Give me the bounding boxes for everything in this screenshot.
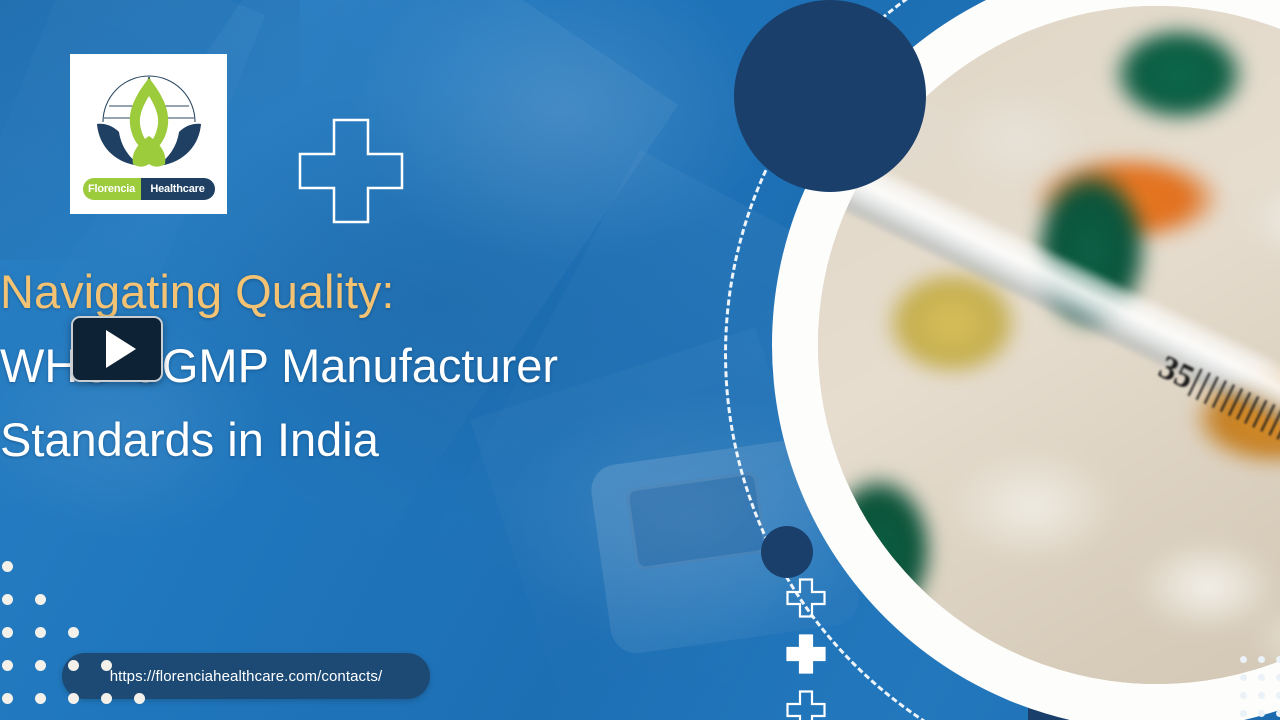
decorative-dot [1258,692,1265,699]
medical-cross-solid-icon [786,634,826,674]
presentation-slide: 35 [0,0,1280,720]
decorative-dot [1258,710,1265,717]
decorative-dot [1258,674,1265,681]
decorative-dot [1240,692,1247,699]
decorative-dot [68,693,79,704]
decorative-dot [2,693,13,704]
video-play-button[interactable] [71,316,163,382]
brand-logo-mark: Florencia Healthcare [83,66,215,202]
decorative-dot [1240,656,1247,663]
decorative-dot [1276,692,1280,699]
brand-logo: Florencia Healthcare [70,54,227,214]
url-pill[interactable]: https://florenciahealthcare.com/contacts… [62,653,430,699]
decorative-dot [1240,674,1247,681]
decorative-dot [35,627,46,638]
play-icon [106,330,136,368]
decorative-dot [1276,710,1280,717]
headline-line-3: Standards in India [0,403,700,477]
decorative-dot [1276,674,1280,681]
navy-circle-large [734,0,926,192]
medical-cross-outline-icon [786,578,826,618]
brand-wordmark-right: Healthcare [141,178,215,200]
decorative-dot [2,660,13,671]
decorative-dot [2,594,13,605]
medical-cross-outline-icon [786,690,826,720]
url-text: https://florenciahealthcare.com/contacts… [110,668,383,685]
decorative-dot [2,561,13,572]
decorative-dot [35,594,46,605]
decorative-dot [101,660,112,671]
medical-cross-outline-icon [298,118,404,224]
decorative-dot [68,660,79,671]
decorative-dot [134,693,145,704]
navy-circle-small [761,526,813,578]
decorative-dot [101,693,112,704]
decorative-dot [1240,710,1247,717]
decorative-dot [35,660,46,671]
decorative-dot [35,693,46,704]
decorative-dot [68,627,79,638]
decorative-dot [1258,656,1265,663]
brand-wordmark-left: Florencia [83,178,141,200]
brand-wordmark: Florencia Healthcare [83,178,215,200]
decorative-dot [1276,656,1280,663]
decorative-dot [2,627,13,638]
globe-leaf-icon [83,66,215,182]
